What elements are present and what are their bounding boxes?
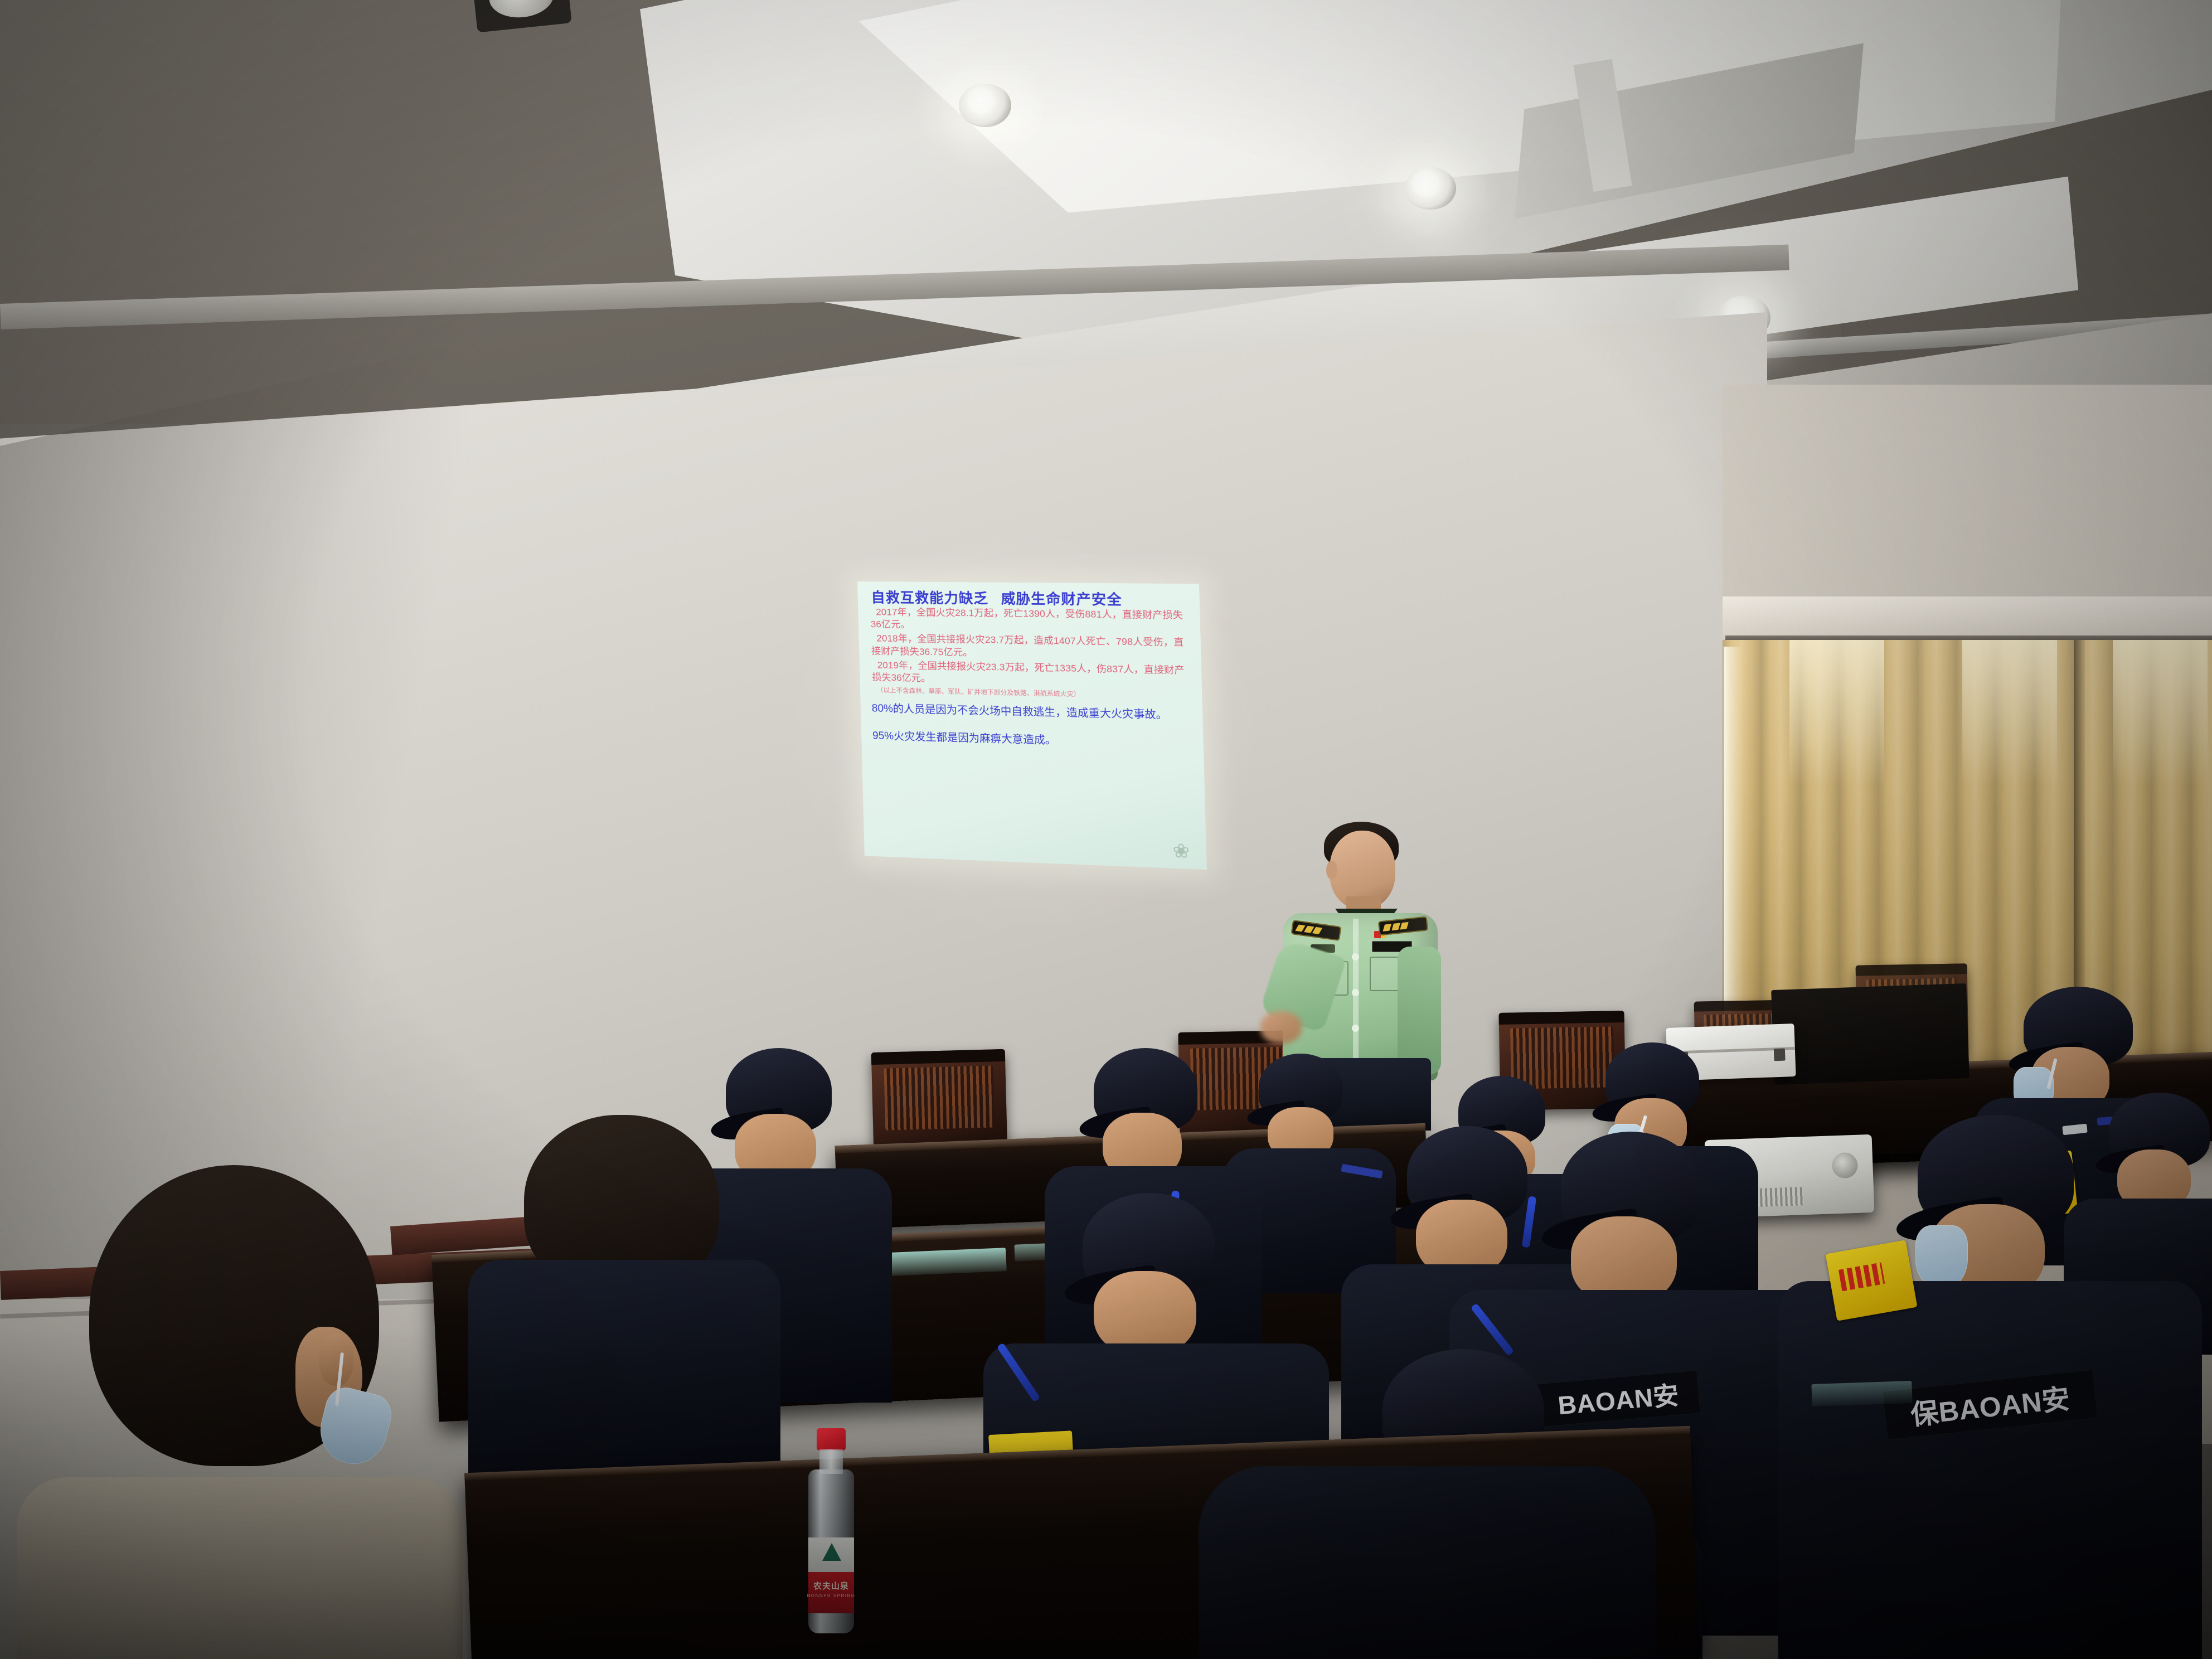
conference-room-photo: 自救互救能力缺乏威胁生命财产安全 2017年，全国火灾28.1万起，死亡1390… — [0, 0, 2212, 1659]
slide-highlight-80: 80%的人员是因为不会火场中自救逃生，造成重大火灾事故。 — [872, 702, 1194, 722]
chair[interactable] — [871, 1049, 1008, 1153]
face-mask — [1915, 1225, 1968, 1290]
presenter-right-hand-motion-blur — [1260, 1011, 1302, 1044]
presenter-shirt-button — [1352, 953, 1359, 961]
foreground-person — [56, 1165, 479, 1659]
projected-slide: 自救互救能力缺乏威胁生命财产安全 2017年，全国火灾28.1万起，死亡1390… — [857, 581, 1207, 870]
foreground-person-shirt — [17, 1477, 463, 1659]
bottle-label-lower — [808, 1572, 854, 1613]
audience-member — [491, 1115, 769, 1516]
presenter-left-arm — [1398, 947, 1441, 1075]
slide-paragraph-2018: 2018年，全国共接报火灾23.7万起，造成1407人死亡、798人受伤，直接财… — [871, 633, 1191, 663]
bottle-cap — [817, 1428, 846, 1451]
audience-torso — [1199, 1466, 1656, 1659]
slide-title: 自救互救能力缺乏威胁生命财产安全 — [871, 590, 1190, 608]
slide-paragraph-2017: 2017年，全国火灾28.1万起，死亡1390人，受伤881人，直接财产损失36… — [870, 606, 1191, 635]
audience-member — [1199, 1427, 1656, 1659]
presenter-ear — [1326, 861, 1337, 880]
yellow-armband — [1826, 1240, 1918, 1321]
bottle-brand-cn: 农夫山泉 — [804, 1580, 858, 1592]
slide-watermark-icon: ❀ — [1164, 836, 1199, 867]
presenter-shirt-button — [1352, 989, 1359, 996]
slide-title-part1: 自救互救能力缺乏 — [871, 590, 988, 607]
window-light-gap — [1724, 647, 1743, 1059]
slide-highlight-95: 95%火灾发生都是因为麻痹大意造成。 — [872, 729, 1194, 751]
foreground-person-ear — [319, 1333, 353, 1386]
right-wall-upper-strip — [1723, 596, 2212, 640]
bottle-mountain-logo-icon — [822, 1543, 841, 1561]
presenter-shirt-button — [1352, 1025, 1359, 1032]
desk-reflected-light — [1811, 1381, 1912, 1406]
slide-paragraph-2019: 2019年，全国共接报火灾23.3万起，死亡1335人，伤837人，直接财产损失… — [872, 659, 1192, 690]
slide-exclusion-note: （以上不含森林、草原、军队、矿井地下部分及铁路、港航系统火灾） — [877, 687, 1193, 701]
ceiling-downlight-icon — [959, 84, 1011, 127]
dark-equipment-panel — [1771, 983, 1970, 1085]
audience-torso — [1778, 1281, 2202, 1659]
bottle-brand-en: NONGFU SPRING — [804, 1593, 858, 1598]
slide-title-part2: 威胁生命财产安全 — [1001, 591, 1122, 608]
ceiling-downlight-icon — [1405, 167, 1456, 210]
water-bottle[interactable]: 农夫山泉 NONGFU SPRING — [804, 1428, 858, 1633]
